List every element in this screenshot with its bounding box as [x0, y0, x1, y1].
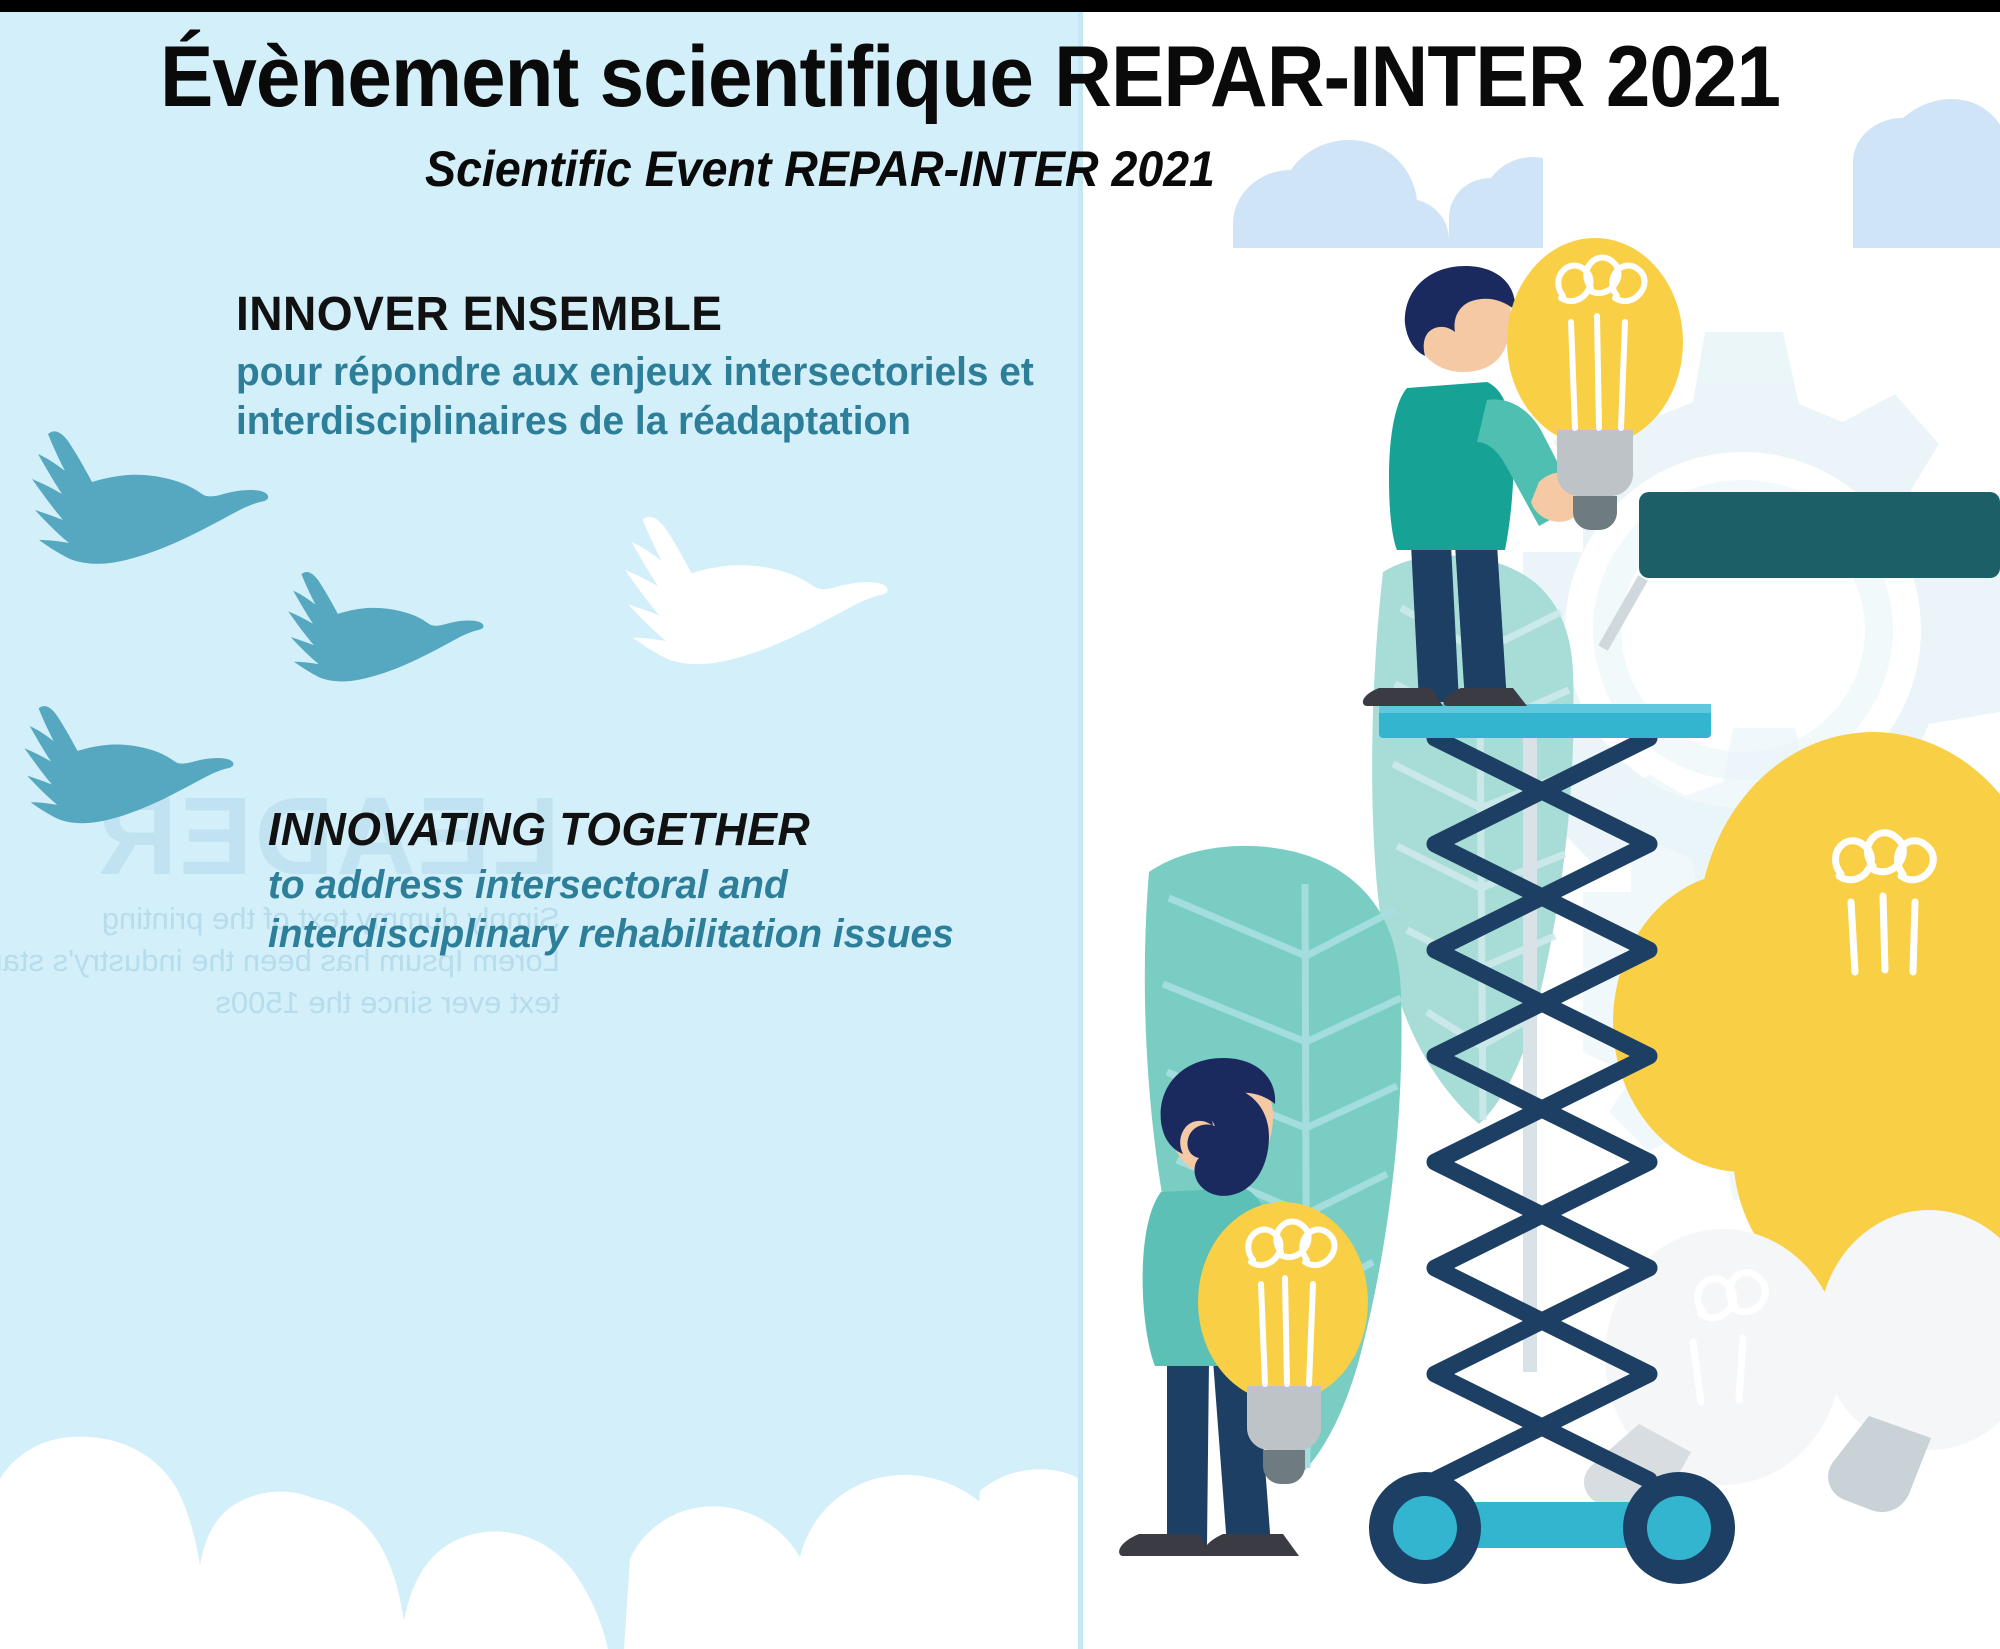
- cloud-icon: [1233, 99, 2000, 248]
- cloud-icon: [0, 1229, 1083, 1649]
- french-body: pour répondre aux enjeux intersectoriels…: [236, 348, 1070, 446]
- english-heading: INNOVATING TOGETHER: [268, 805, 1102, 853]
- bird-icon: [270, 567, 485, 702]
- french-body-line-2: interdisciplinaires de la réadaptation: [236, 397, 1070, 446]
- english-body-line-1: to address intersectoral and: [268, 861, 1102, 910]
- french-heading: INNOVER ENSEMBLE: [236, 290, 1062, 340]
- english-body: to address intersectoral and interdiscip…: [268, 861, 1102, 959]
- bird-icon-white: [600, 512, 890, 690]
- french-body-line-1: pour répondre aux enjeux intersectoriels…: [236, 348, 1070, 397]
- bird-icon: [5, 702, 235, 844]
- top-black-bar: [0, 0, 2000, 12]
- bird-icon: [10, 427, 270, 587]
- french-text-block: INNOVER ENSEMBLE pour répondre aux enjeu…: [236, 290, 1096, 446]
- english-body-line-2: interdisciplinary rehabilitation issues: [268, 910, 1102, 959]
- english-text-block: INNOVATING TOGETHER to address intersect…: [268, 805, 1128, 959]
- innovation-illustration: [1083, 12, 2000, 1649]
- slide-canvas: LEADER Simply dummy text of the printing…: [0, 0, 2000, 1649]
- illustration-panel: [1083, 12, 2000, 1649]
- watermark-line-3: text ever since the 1500s: [0, 982, 560, 1024]
